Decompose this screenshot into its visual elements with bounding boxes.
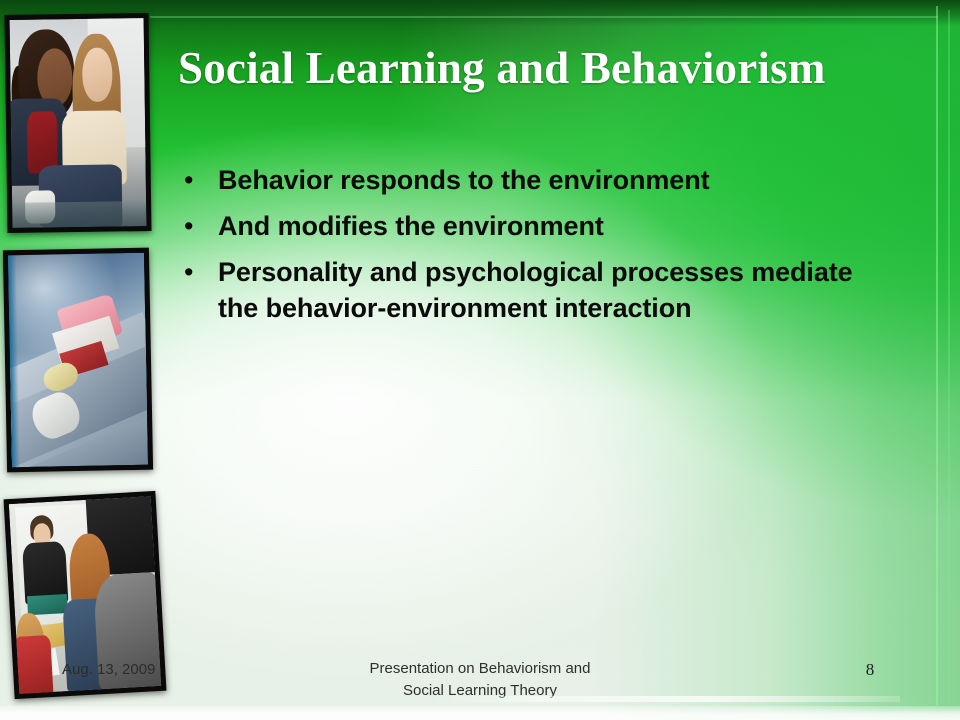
bullet-point-icon: • [180,254,218,290]
photo-art-students [10,18,147,228]
bullet-point-icon: • [180,208,218,244]
photo-chalk-tray-erasers [3,248,153,473]
list-item: • And modifies the environment [180,208,870,244]
photo-inner-2 [8,253,148,468]
presentation-slide: Social Learning and Behaviorism • Behavi… [0,0,960,720]
decorative-frame-line-right-inner [948,10,950,700]
footer-date: Aug. 13, 2009 [62,660,155,680]
slide-bullet-list: • Behavior responds to the environment •… [180,162,870,336]
list-item: • Personality and psychological processe… [180,254,870,326]
decorative-frame-line-right-outer [936,6,938,706]
list-item: • Behavior responds to the environment [180,162,870,198]
slide-title: Social Learning and Behaviorism [178,42,918,94]
photo-two-students-studying [4,13,151,233]
bullet-text: And modifies the environment [218,208,870,244]
decorative-bottom-highlight [430,696,900,702]
photo-art-chalk-tray [8,253,148,468]
decorative-frame-line-top [150,16,938,18]
photo-inner-1 [10,18,147,228]
slide-number: 8 [850,660,890,680]
bullet-point-icon: • [180,162,218,198]
decorative-bottom-band [0,706,960,720]
bullet-text: Personality and psychological processes … [218,254,870,326]
footer-title-line-1: Presentation on Behaviorism and [300,658,660,680]
bullet-text: Behavior responds to the environment [218,162,870,198]
